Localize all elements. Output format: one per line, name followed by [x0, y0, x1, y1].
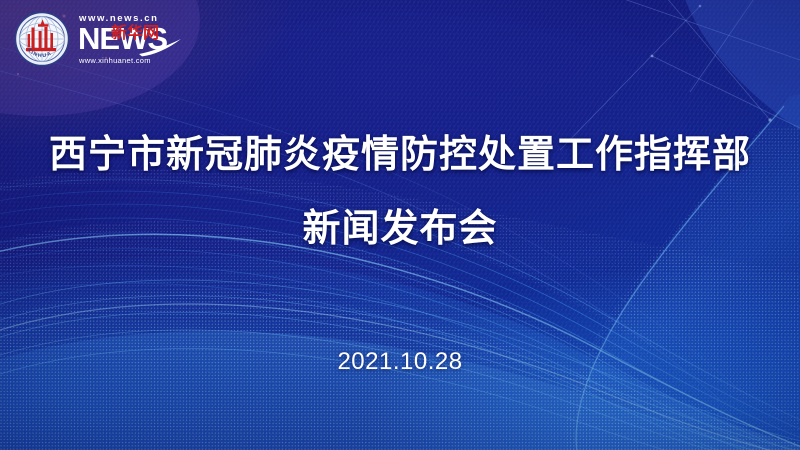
logo-url-bottom: www.xinhuanet.com [79, 56, 151, 65]
date-text: 2021.10.28 [0, 348, 800, 376]
swoosh-icon [138, 39, 182, 57]
xinhua-emblem-icon: XINHUA [14, 11, 70, 67]
title-line-2: 新闻发布会 [0, 202, 800, 254]
title-line-1: 西宁市新冠肺炎疫情防控处置工作指挥部 [0, 128, 800, 180]
press-conference-title-card: XINHUA www.news.cn NEWS 新华网 www.xinhuane… [0, 0, 800, 450]
headline-block: 西宁市新冠肺炎疫情防控处置工作指挥部 新闻发布会 [0, 128, 800, 254]
xinhua-logo[interactable]: XINHUA www.news.cn NEWS 新华网 www.xinhuane… [14, 11, 182, 67]
xinhua-wordmark: www.news.cn NEWS 新华网 www.xinhuanet.com [78, 11, 182, 67]
